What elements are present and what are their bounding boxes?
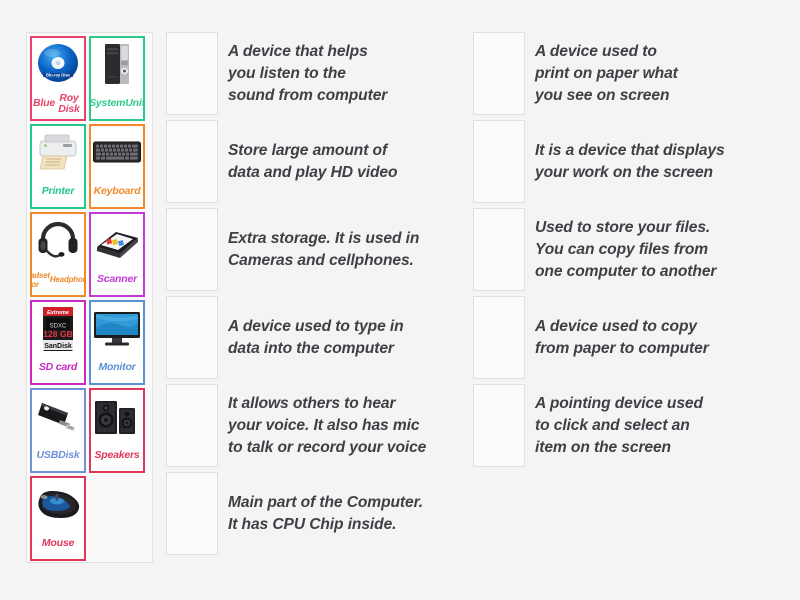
answer-line: you listen to the [228,63,387,85]
bluray-disc-icon: Blu-ray Disc [32,38,84,90]
answer-row: A device used toprint on paper whatyou s… [473,32,773,115]
tile-headset[interactable]: Headset orHeadphones [30,212,86,297]
answer-line: to talk or record your voice [228,437,426,459]
tile-label-headset: Headset orHeadphones [32,266,84,295]
dropzone-answer-usbdisk[interactable] [473,208,525,291]
answer-mouse-text: A pointing device usedto click and selec… [525,384,773,467]
answer-line: A device used to copy [535,316,709,338]
answer-line: A device that helps [228,41,387,63]
tile-label-line: USB [37,450,59,461]
tile-scanner[interactable]: Scanner [89,212,145,297]
tile-label-keyboard: Keyboard [91,178,143,207]
desktop-tower-icon [91,38,143,90]
tile-label-line: Roy Disk [55,93,83,115]
svg-text:SanDisk: SanDisk [44,343,72,350]
answer-headset-text: It allows others to hearyour voice. It a… [218,384,466,467]
tile-bank-panel: Blu-ray Disc BlueRoy Disk SystemUnit Pri… [26,32,153,563]
answer-line: your work on the screen [535,162,725,184]
tile-monitor[interactable]: Monitor [89,300,145,385]
tile-label-line: Blue [33,98,55,109]
answer-row: It allows others to hearyour voice. It a… [166,384,466,467]
answer-line: from paper to computer [535,338,709,360]
tile-speakers[interactable]: Speakers [89,388,145,473]
tile-label-speakers: Speakers [91,442,143,471]
svg-text:128 GB: 128 GB [43,329,73,339]
mouse-icon [32,478,84,530]
tile-label-sd-card: SD card [32,354,84,383]
tile-label-mouse: Mouse [32,530,84,559]
answer-line: A device used to type in [228,316,404,338]
answer-row: Used to store your files.You can copy fi… [473,208,773,291]
answer-line: It is a device that displays [535,140,725,162]
sd-card-icon: Extreme SDXC 128 GB SanDisk [32,302,84,354]
answer-bluray-text: Store large amount ofdata and play HD vi… [218,120,466,203]
answer-line: A pointing device used [535,393,703,415]
tile-label-usb-disk: USBDisk [32,442,84,471]
answer-column-left: A device that helpsyou listen to thesoun… [166,32,466,560]
svg-text:Blu-ray Disc: Blu-ray Disc [46,72,71,77]
answer-row: A device used to type indata into the co… [166,296,466,379]
scanner-icon [91,214,143,266]
dropzone-answer-scanner[interactable] [473,296,525,379]
tile-sd-card[interactable]: Extreme SDXC 128 GB SanDisk SD card [30,300,86,385]
answer-row: It is a device that displaysyour work on… [473,120,773,203]
dropzone-answer-printer[interactable] [473,32,525,115]
answer-line: data into the computer [228,338,404,360]
answer-systemunit-text: Main part of the Computer.It has CPU Chi… [218,472,466,555]
answer-monitor-text: It is a device that displaysyour work on… [525,120,773,203]
dropzone-answer-sdcard[interactable] [166,208,218,291]
tile-label-line: Headset or [30,271,50,289]
dropzone-answer-headset[interactable] [166,384,218,467]
answer-line: It allows others to hear [228,393,426,415]
tile-label-line: System [89,98,125,109]
tile-label-line: Headphones [50,275,86,284]
answer-line: to click and select an [535,415,703,437]
answer-usbdisk-text: Used to store your files.You can copy fi… [525,208,773,291]
answer-line: print on paper what [535,63,678,85]
dropzone-answer-keyboard[interactable] [166,296,218,379]
answer-scanner-text: A device used to copyfrom paper to compu… [525,296,773,379]
tile-label-blu-ray-disk: BlueRoy Disk [32,90,84,119]
dropzone-answer-monitor[interactable] [473,120,525,203]
answer-line: Store large amount of [228,140,397,162]
answer-row: Main part of the Computer.It has CPU Chi… [166,472,466,555]
dropzone-answer-mouse[interactable] [473,384,525,467]
match-up-activity: Blu-ray Disc BlueRoy Disk SystemUnit Pri… [0,0,800,600]
answer-line: You can copy files from [535,239,716,261]
tile-label-line: Disk [58,450,79,461]
tile-label-monitor: Monitor [91,354,143,383]
dropzone-answer-bluray[interactable] [166,120,218,203]
keyboard-icon [91,126,143,178]
answer-speakers-text: A device that helpsyou listen to thesoun… [218,32,466,115]
answer-row: A pointing device usedto click and selec… [473,384,773,467]
usb-drive-icon [32,390,84,442]
tile-mouse[interactable]: Mouse [30,476,86,561]
headset-icon [32,214,84,266]
answer-line: item on the screen [535,437,703,459]
answer-line: Cameras and cellphones. [228,250,419,272]
answer-line: you see on screen [535,85,678,107]
tile-label-printer: Printer [32,178,84,207]
tile-keyboard[interactable]: Keyboard [89,124,145,209]
answer-line: one computer to another [535,261,716,283]
printer-icon [32,126,84,178]
answer-line: data and play HD video [228,162,397,184]
answer-line: Used to store your files. [535,217,716,239]
tile-label-scanner: Scanner [91,266,143,295]
answer-sdcard-text: Extra storage. It is used inCameras and … [218,208,466,291]
answer-line: your voice. It also has mic [228,415,426,437]
answer-row: Store large amount ofdata and play HD vi… [166,120,466,203]
answer-line: It has CPU Chip inside. [228,514,423,536]
answer-line: A device used to [535,41,678,63]
monitor-icon [91,302,143,354]
tile-blu-ray-disk[interactable]: Blu-ray Disc BlueRoy Disk [30,36,86,121]
answer-line: Main part of the Computer. [228,492,423,514]
speakers-icon [91,390,143,442]
tile-printer[interactable]: Printer [30,124,86,209]
tile-label-system-unit: SystemUnit [91,90,143,119]
dropzone-answer-systemunit[interactable] [166,472,218,555]
svg-text:Extreme: Extreme [47,310,69,316]
tile-label-line: Unit [125,98,145,109]
tile-usb-disk[interactable]: USBDisk [30,388,86,473]
answer-row: Extra storage. It is used inCameras and … [166,208,466,291]
answer-line: Extra storage. It is used in [228,228,419,250]
answer-line: sound from computer [228,85,387,107]
answer-row: A device that helpsyou listen to thesoun… [166,32,466,115]
dropzone-answer-speakers[interactable] [166,32,218,115]
answer-row: A device used to copyfrom paper to compu… [473,296,773,379]
answer-keyboard-text: A device used to type indata into the co… [218,296,466,379]
answer-printer-text: A device used toprint on paper whatyou s… [525,32,773,115]
tile-system-unit[interactable]: SystemUnit [89,36,145,121]
answer-column-right: A device used toprint on paper whatyou s… [473,32,773,472]
